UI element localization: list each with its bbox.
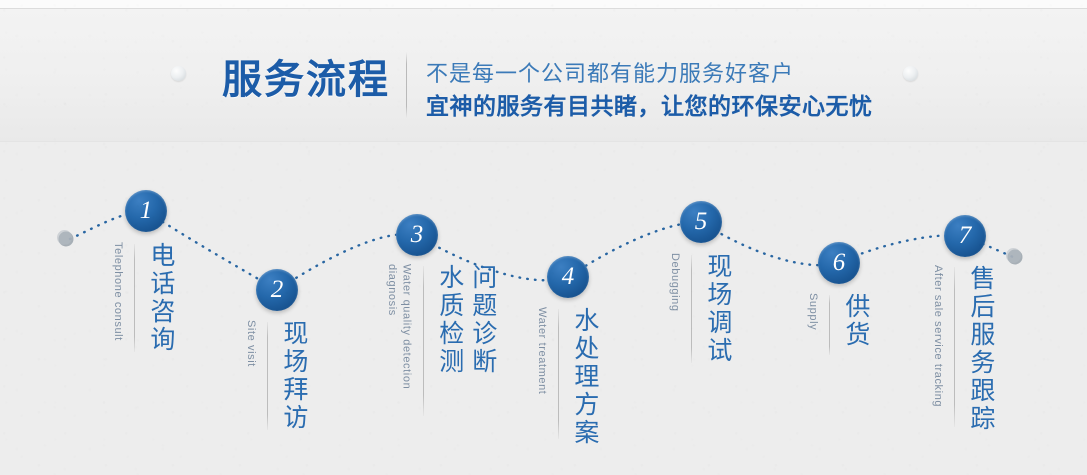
step-label-3-cn-col-1: 问题诊断 — [466, 264, 499, 376]
step-label-6-en: Supply — [805, 293, 820, 330]
step-label-3-en-line-1: Water quality detection — [399, 264, 414, 389]
step-label-7-cn: 售后服务跟踪 — [964, 265, 997, 433]
step-label-5-cn-col-1: 现场调试 — [701, 253, 734, 365]
step-label-2: Site visit 现场拜访 — [243, 320, 310, 432]
step-label-3-en: diagnosis Water quality detection — [384, 264, 414, 389]
step-circle-6[interactable]: 6 — [818, 242, 860, 284]
step-label-6-rule — [829, 295, 830, 355]
step-circle-3[interactable]: 3 — [396, 214, 438, 256]
step-label-7-cn-col-1: 售后服务跟踪 — [964, 265, 997, 433]
step-label-4: Water treatment 水处理方案 — [534, 307, 601, 447]
step-label-2-en-line-1: Site visit — [243, 320, 258, 367]
step-label-5-en: Debugging — [667, 253, 682, 312]
step-label-4-rule — [558, 309, 559, 439]
step-label-1-en: Telephone consult — [110, 242, 125, 341]
step-label-1: Telephone consult 电话咨询 — [110, 242, 177, 354]
step-label-4-cn-col-1: 水处理方案 — [568, 307, 601, 447]
step-label-5-en-line-1: Debugging — [667, 253, 682, 312]
step-label-4-en-line-1: Water treatment — [534, 307, 549, 394]
step-label-3-cn: 水质检测 问题诊断 — [433, 264, 499, 376]
service-process-banner: 服务流程 不是每一个公司都有能力服务好客户 宜神的服务有目共睹，让您的环保安心无… — [0, 0, 1087, 475]
step-label-3: diagnosis Water quality detection 水质检测 问… — [384, 264, 499, 416]
step-label-2-rule — [267, 322, 268, 430]
process-flow: 1 Telephone consult 电话咨询 2 Site visit 现场… — [0, 0, 1087, 475]
step-circle-7[interactable]: 7 — [944, 215, 986, 257]
step-circle-4[interactable]: 4 — [547, 256, 589, 298]
step-label-1-cn-col-1: 电话咨询 — [144, 242, 177, 354]
step-label-4-en: Water treatment — [534, 307, 549, 394]
step-label-5-cn: 现场调试 — [701, 253, 734, 365]
step-label-5: Debugging 现场调试 — [667, 253, 734, 365]
step-label-1-en-line-1: Telephone consult — [110, 242, 125, 341]
step-label-7-en: After sale service tracking — [930, 265, 945, 407]
step-label-7-rule — [954, 267, 955, 427]
step-circle-5[interactable]: 5 — [680, 201, 722, 243]
step-label-2-cn: 现场拜访 — [277, 320, 310, 432]
step-label-6: Supply 供货 — [805, 293, 872, 355]
step-circle-2[interactable]: 2 — [256, 269, 298, 311]
step-label-2-en: Site visit — [243, 320, 258, 367]
step-circle-1[interactable]: 1 — [125, 190, 167, 232]
step-label-2-cn-col-1: 现场拜访 — [277, 320, 310, 432]
step-label-6-cn-col-1: 供货 — [839, 293, 872, 349]
step-label-7: After sale service tracking 售后服务跟踪 — [930, 265, 997, 433]
step-label-1-rule — [134, 244, 135, 352]
step-label-3-cn-col-2: 水质检测 — [433, 264, 466, 376]
step-label-6-en-line-1: Supply — [805, 293, 820, 330]
step-label-4-cn: 水处理方案 — [568, 307, 601, 447]
step-label-1-cn: 电话咨询 — [144, 242, 177, 354]
step-label-6-cn: 供货 — [839, 293, 872, 349]
step-label-5-rule — [691, 255, 692, 363]
step-label-3-en-line-2: diagnosis — [384, 264, 399, 389]
step-label-7-en-line-1: After sale service tracking — [930, 265, 945, 407]
step-label-3-rule — [423, 266, 424, 416]
